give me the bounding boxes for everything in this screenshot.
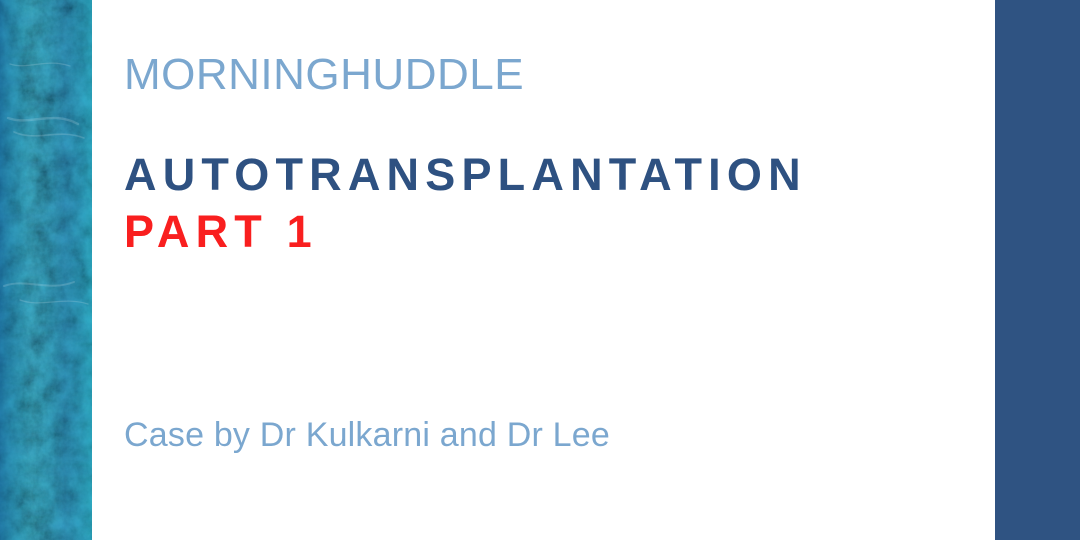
blue-texture-image (0, 0, 92, 540)
slide-byline: Case by Dr Kulkarni and Dr Lee (124, 415, 610, 456)
slide-title-block: AUTOTRANSPLANTATION PART 1 (124, 146, 807, 260)
slide-eyebrow: MORNINGHUDDLE (124, 52, 524, 98)
title-slide: MORNINGHUDDLE AUTOTRANSPLANTATION PART 1… (0, 0, 1080, 540)
slide-content: MORNINGHUDDLE AUTOTRANSPLANTATION PART 1… (124, 0, 954, 540)
page-title: AUTOTRANSPLANTATION (124, 146, 807, 203)
slide-subtitle-part: PART 1 (124, 203, 807, 260)
navy-accent-band (995, 0, 1080, 540)
